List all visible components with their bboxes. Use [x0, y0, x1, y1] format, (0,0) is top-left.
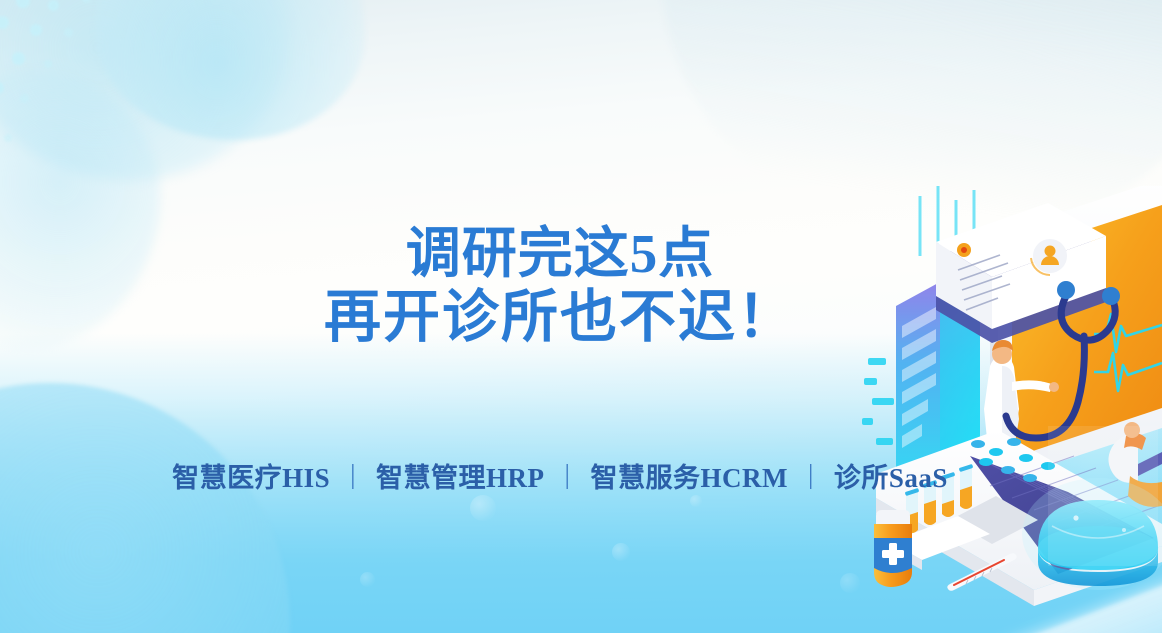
bubble-c	[690, 495, 702, 507]
product-list: 智慧医疗HIS | 智慧管理HRP | 智慧服务HCRM | 诊所SaaS	[0, 456, 1120, 495]
headline-line-2: 再开诊所也不迟！	[0, 286, 1120, 350]
halftone-dot-pattern	[0, 0, 126, 200]
product-item-hcrm: 智慧服务HCRM	[584, 456, 793, 495]
promotional-banner: 调研完这5点 再开诊所也不迟！ 智慧医疗HIS | 智慧管理HRP | 智慧服务…	[0, 0, 1162, 633]
product-item-hrp: 智慧管理HRP	[370, 456, 551, 495]
bottom-left-circle	[0, 383, 290, 633]
top-left-blob-b	[95, 0, 365, 140]
bubble-e	[840, 573, 860, 593]
product-item-his: 智慧医疗HIS	[166, 456, 336, 495]
medicine-bottle	[874, 510, 912, 587]
headline-line-1: 调研完这5点	[0, 222, 1120, 286]
product-item-saas: 诊所SaaS	[828, 456, 954, 495]
top-right-wave-back	[792, 0, 1162, 170]
bubble-a	[470, 495, 496, 521]
bubble-b	[612, 543, 630, 561]
separator-2: |	[551, 459, 585, 490]
separator-1: |	[336, 459, 370, 490]
page-title: 调研完这5点 再开诊所也不迟！	[0, 222, 1120, 350]
top-left-blob-a	[0, 0, 290, 180]
bubble-d	[360, 572, 375, 587]
separator-3: |	[794, 459, 828, 490]
